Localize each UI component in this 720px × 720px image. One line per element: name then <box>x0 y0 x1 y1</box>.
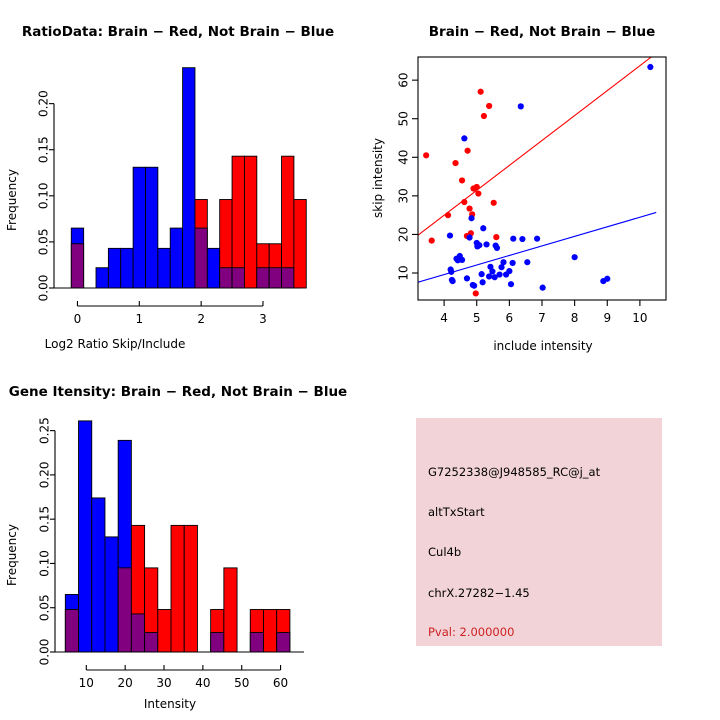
x-axis-tick-label: 5 <box>473 311 481 325</box>
scatter-plot-axes: 45678910102030405060 <box>397 57 667 325</box>
x-axis-tick-label: 0 <box>74 312 82 326</box>
scatter-point <box>481 113 487 119</box>
histogram-bar <box>145 167 157 288</box>
y-axis-tick-label: 0.00 <box>37 275 51 302</box>
scatter-point <box>461 135 467 141</box>
scatter-point <box>506 268 512 274</box>
y-axis-tick-label: 30 <box>397 188 411 203</box>
scatter-point <box>468 215 474 221</box>
scatter-plot-svg: Brain − Red, Not Brain − Blue 4567891010… <box>360 0 720 360</box>
histogram-bar <box>171 525 184 652</box>
scatter-point <box>429 238 435 244</box>
y-axis-tick-label: 50 <box>397 111 411 126</box>
histogram-bar <box>96 268 108 288</box>
x-axis-tick-label: 3 <box>259 312 267 326</box>
y-axis-tick-label: 0.25 <box>38 417 52 444</box>
x-axis-tick-label: 30 <box>156 676 171 690</box>
scatter-point <box>476 242 482 248</box>
scatter-point <box>452 160 458 166</box>
scatter-point <box>486 103 492 109</box>
info-probe-id: G7252338@J948585_RC@j_at <box>428 465 600 479</box>
y-axis-tick-label: 0.15 <box>38 506 52 533</box>
scatter-point <box>423 152 429 158</box>
y-axis-tick-label: 20 <box>397 227 411 242</box>
scatter-point <box>510 236 516 242</box>
x-axis-tick-label: 8 <box>571 311 579 325</box>
panel-scatter-plot: Brain − Red, Not Brain − Blue 4567891010… <box>360 0 720 360</box>
panel-info: G7252338@J948585_RC@j_at altTxStart Cul4… <box>360 360 720 720</box>
y-axis-tick-label: 0.10 <box>37 182 51 209</box>
y-axis-tick-label: 0.00 <box>38 639 52 666</box>
scatter-plot-title: Brain − Red, Not Brain − Blue <box>429 24 655 40</box>
x-axis-tick-label: 9 <box>603 311 611 325</box>
scatter-point <box>478 89 484 95</box>
gene-histogram-xlabel: Intensity <box>144 697 196 711</box>
histogram-bar-overlap <box>257 268 269 288</box>
scatter-point <box>464 275 470 281</box>
y-axis-tick-label: 0.20 <box>37 90 51 117</box>
histogram-bar-overlap <box>211 633 224 652</box>
scatter-point <box>466 234 472 240</box>
y-axis-tick-label: 0.05 <box>38 594 52 621</box>
scatter-plot-xlabel: include intensity <box>493 339 592 353</box>
scatter-point <box>494 245 500 251</box>
histogram-bar <box>244 156 256 288</box>
histogram-bar-overlap <box>282 268 294 288</box>
scatter-point <box>459 257 465 263</box>
scatter-point <box>480 225 486 231</box>
scatter-point <box>491 200 497 206</box>
histogram-bar-overlap <box>65 609 78 652</box>
scatter-plot-ylabel: skip intensity <box>371 138 385 218</box>
histogram-bar <box>105 537 118 652</box>
histogram-bar <box>79 421 92 652</box>
scatter-plot-points <box>418 57 656 297</box>
scatter-point <box>534 236 540 242</box>
ratio-histogram-xlabel: Log2 Ratio Skip/Include <box>45 337 186 351</box>
y-axis-tick-label: 0.05 <box>37 229 51 256</box>
scatter-point <box>465 148 471 154</box>
scatter-point <box>518 103 524 109</box>
scatter-point <box>647 64 653 70</box>
ratio-histogram-title: RatioData: Brain − Red, Not Brain − Blue <box>22 24 334 40</box>
x-axis-tick-label: 20 <box>118 676 133 690</box>
trend-line <box>418 57 651 235</box>
y-axis-tick-label: 40 <box>397 150 411 165</box>
y-axis-tick-label: 0.10 <box>38 550 52 577</box>
scatter-point <box>519 236 525 242</box>
histogram-bar-overlap <box>131 614 144 652</box>
scatter-point <box>524 259 530 265</box>
info-pvalue: Pval: 2.000000 <box>428 625 514 639</box>
histogram-bar <box>263 609 276 652</box>
scatter-point <box>461 199 467 205</box>
histogram-bar <box>183 68 195 288</box>
scatter-point <box>447 232 453 238</box>
x-axis-tick-label: 1 <box>135 312 143 326</box>
histogram-bar <box>133 167 145 288</box>
y-axis-tick-label: 60 <box>397 73 411 88</box>
x-axis-tick-label: 6 <box>506 311 514 325</box>
histogram-bar-overlap <box>232 268 244 288</box>
histogram-bar <box>294 200 306 288</box>
scatter-inner <box>418 57 656 297</box>
info-background <box>416 418 662 646</box>
scatter-point <box>496 271 502 277</box>
info-gene-symbol: Cul4b <box>428 545 461 559</box>
gene-histogram-title: Gene Itensity: Brain − Red, Not Brain − … <box>9 384 347 400</box>
panel-ratio-histogram: RatioData: Brain − Red, Not Brain − Blue… <box>0 0 360 360</box>
gene-histogram-bars <box>65 421 290 652</box>
histogram-bar-overlap <box>145 633 158 652</box>
scatter-point <box>510 260 516 266</box>
scatter-point <box>466 205 472 211</box>
histogram-bar <box>224 568 237 652</box>
scatter-point <box>489 268 495 274</box>
x-axis-tick-label: 4 <box>440 311 448 325</box>
histogram-bar <box>121 248 133 288</box>
histogram-bar <box>170 228 182 288</box>
scatter-point <box>474 184 480 190</box>
histogram-bar <box>92 498 105 652</box>
histogram-bar <box>207 248 219 288</box>
x-axis-tick-label: 40 <box>195 676 210 690</box>
x-axis-tick-label: 7 <box>538 311 546 325</box>
histogram-bar <box>158 609 171 652</box>
x-axis-tick-label: 50 <box>234 676 249 690</box>
figure-canvas: RatioData: Brain − Red, Not Brain − Blue… <box>0 0 720 720</box>
gene-histogram-ylabel: Frequency <box>5 524 19 586</box>
ratio-histogram-axes: 0.000.050.100.150.200123 <box>37 90 302 326</box>
scatter-point <box>459 177 465 183</box>
scatter-point <box>473 290 479 296</box>
y-axis-tick-label: 0.20 <box>38 462 52 489</box>
scatter-point <box>475 190 481 196</box>
scatter-point <box>500 259 506 265</box>
scatter-point <box>540 285 546 291</box>
scatter-point <box>480 279 486 285</box>
x-axis-tick-label: 2 <box>197 312 205 326</box>
scatter-point <box>493 234 499 240</box>
info-event-type: altTxStart <box>428 505 485 519</box>
panel-gene-histogram: Gene Itensity: Brain − Red, Not Brain − … <box>0 360 360 720</box>
histogram-bar <box>108 248 120 288</box>
histogram-bar-overlap <box>71 244 83 288</box>
x-axis-tick-label: 10 <box>632 311 647 325</box>
histogram-bar-overlap <box>277 633 290 652</box>
scatter-point <box>471 283 477 289</box>
y-axis-tick-label: 0.15 <box>37 136 51 163</box>
histogram-bar <box>158 248 170 288</box>
histogram-bar-overlap <box>195 228 207 288</box>
scatter-point <box>483 241 489 247</box>
scatter-point <box>449 278 455 284</box>
ratio-histogram-ylabel: Frequency <box>5 169 19 231</box>
histogram-bar-overlap <box>118 568 131 652</box>
scatter-point <box>445 212 451 218</box>
scatter-point <box>508 281 514 287</box>
gene-histogram-svg: Gene Itensity: Brain − Red, Not Brain − … <box>0 360 360 720</box>
x-axis-tick-label: 10 <box>79 676 94 690</box>
scatter-point <box>572 254 578 260</box>
ratio-histogram-svg: RatioData: Brain − Red, Not Brain − Blue… <box>0 0 360 360</box>
histogram-bar-overlap <box>269 268 281 288</box>
scatter-point <box>479 271 485 277</box>
x-axis-tick-label: 60 <box>273 676 288 690</box>
info-locus: chrX.27282−1.45 <box>428 586 530 600</box>
histogram-bar-overlap <box>220 268 232 288</box>
histogram-bar <box>184 525 197 652</box>
ratio-histogram-bars <box>71 68 306 288</box>
scatter-point <box>604 276 610 282</box>
y-axis-tick-label: 10 <box>397 265 411 280</box>
histogram-bar-overlap <box>250 633 263 652</box>
scatter-point <box>448 269 454 275</box>
plot-box <box>418 57 666 300</box>
